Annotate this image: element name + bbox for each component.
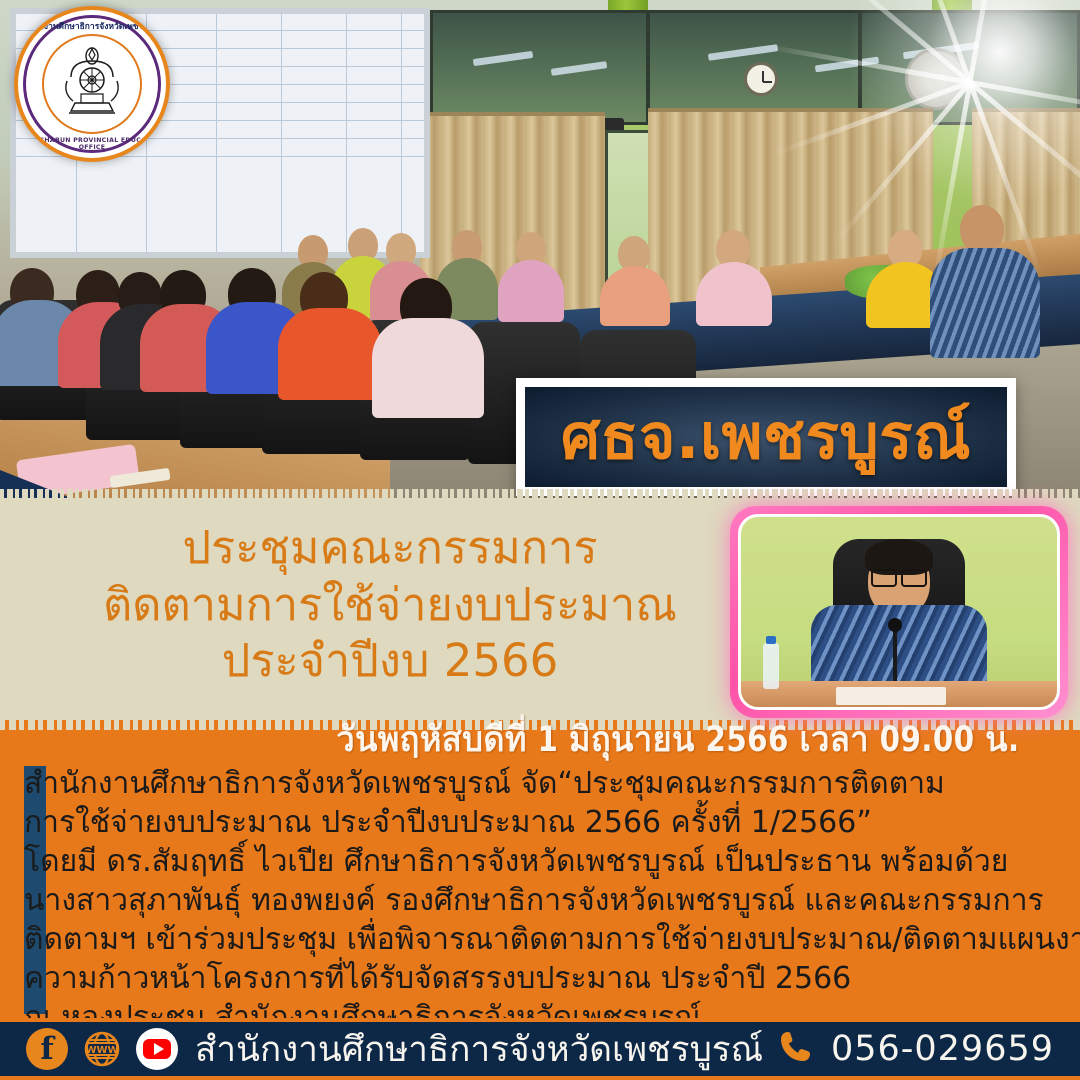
wall-clock xyxy=(744,62,778,96)
portrait-glasses xyxy=(871,569,927,584)
body-line-2: การใช้จ่ายงบประมาณ ประจำปีงบประมาณ 2566 … xyxy=(24,803,1074,842)
portrait-papers xyxy=(836,687,946,705)
ministry-emblem-icon xyxy=(57,47,127,121)
body-line-5: ติดตามฯ เข้าร่วมประชุม เพื่อพิจารณาติดตา… xyxy=(24,920,1074,959)
organization-logo: สำนักงานศึกษาธิการจังหวัดเพชรบูรณ์ PHETC… xyxy=(14,6,170,162)
website-globe-icon[interactable]: WWW xyxy=(81,1028,123,1070)
body-text-section: สำนักงานศึกษาธิการจังหวัดเพชรบูรณ์ จัด“ป… xyxy=(0,762,1080,1020)
province-badge-inner: ศธจ.เพชรบูรณ์ xyxy=(525,387,1007,487)
youtube-play-shape xyxy=(143,1039,171,1059)
youtube-icon[interactable] xyxy=(136,1028,178,1070)
footer-org-name: สำนักงานศึกษาธิการจังหวัดเพชรบูรณ์ xyxy=(195,1022,763,1077)
chairman-portrait xyxy=(738,514,1060,710)
footer-bar: f WWW สำนักงานศึกษาธิการจังหวัดเพชรบูรณ์ xyxy=(0,1018,1080,1080)
svg-text:WWW: WWW xyxy=(85,1045,118,1056)
sun-flare xyxy=(820,0,1080,220)
chairman-portrait-frame xyxy=(730,506,1068,718)
body-line-3: โดยมี ดร.สัมฤทธิ์ ไวเปีย ศึกษาธิการจังหว… xyxy=(24,842,1074,881)
title-line-2: ติดตามการใช้จ่ายงบประมาณ xyxy=(60,577,720,634)
portrait-water-bottle xyxy=(763,643,779,689)
page-title: ประชุมคณะกรรมการ ติดตามการใช้จ่ายงบประมา… xyxy=(60,520,720,690)
body-line-1: สำนักงานศึกษาธิการจังหวัดเพชรบูรณ์ จัด“ป… xyxy=(24,764,1074,803)
phone-number: 056-029659 xyxy=(831,1029,1054,1069)
poster-canvas: สำนักงานศึกษาธิการจังหวัดเพชรบูรณ์ PHETC… xyxy=(0,0,1080,1080)
title-line-3: ประจำปีงบ 2566 xyxy=(60,633,720,690)
event-date-bar: วันพฤหัสบดีที่ 1 มิถุนายน 2566 เวลา 09.0… xyxy=(0,712,1080,766)
logo-english-text: PHETCHABUN PROVINCIAL EDUCATION OFFICE xyxy=(18,137,166,151)
youtube-play-triangle xyxy=(154,1043,164,1055)
facebook-icon[interactable]: f xyxy=(26,1028,68,1070)
band-top-torn-edge xyxy=(0,489,1080,503)
body-line-4: นางสาวสุภาพันธุ์ ทองพยงค์ รองศึกษาธิการจ… xyxy=(24,881,1074,920)
province-badge-label: ศธจ.เพชรบูรณ์ xyxy=(561,406,971,468)
phone-icon xyxy=(777,1028,815,1070)
event-date-text: วันพฤหัสบดีที่ 1 มิถุนายน 2566 เวลา 09.0… xyxy=(337,712,1020,767)
title-line-1: ประชุมคณะกรรมการ xyxy=(60,520,720,577)
province-badge: ศธจ.เพชรบูรณ์ xyxy=(516,378,1016,496)
body-line-6: ความก้าวหน้าโครงการที่ได้รับจัดสรรงบประม… xyxy=(24,959,1074,998)
phone-contact: 056-029659 xyxy=(777,1028,1054,1070)
logo-thai-text: สำนักงานศึกษาธิการจังหวัดเพชรบูรณ์ xyxy=(18,19,166,33)
body-paragraph: สำนักงานศึกษาธิการจังหวัดเพชรบูรณ์ จัด“ป… xyxy=(24,764,1074,1037)
